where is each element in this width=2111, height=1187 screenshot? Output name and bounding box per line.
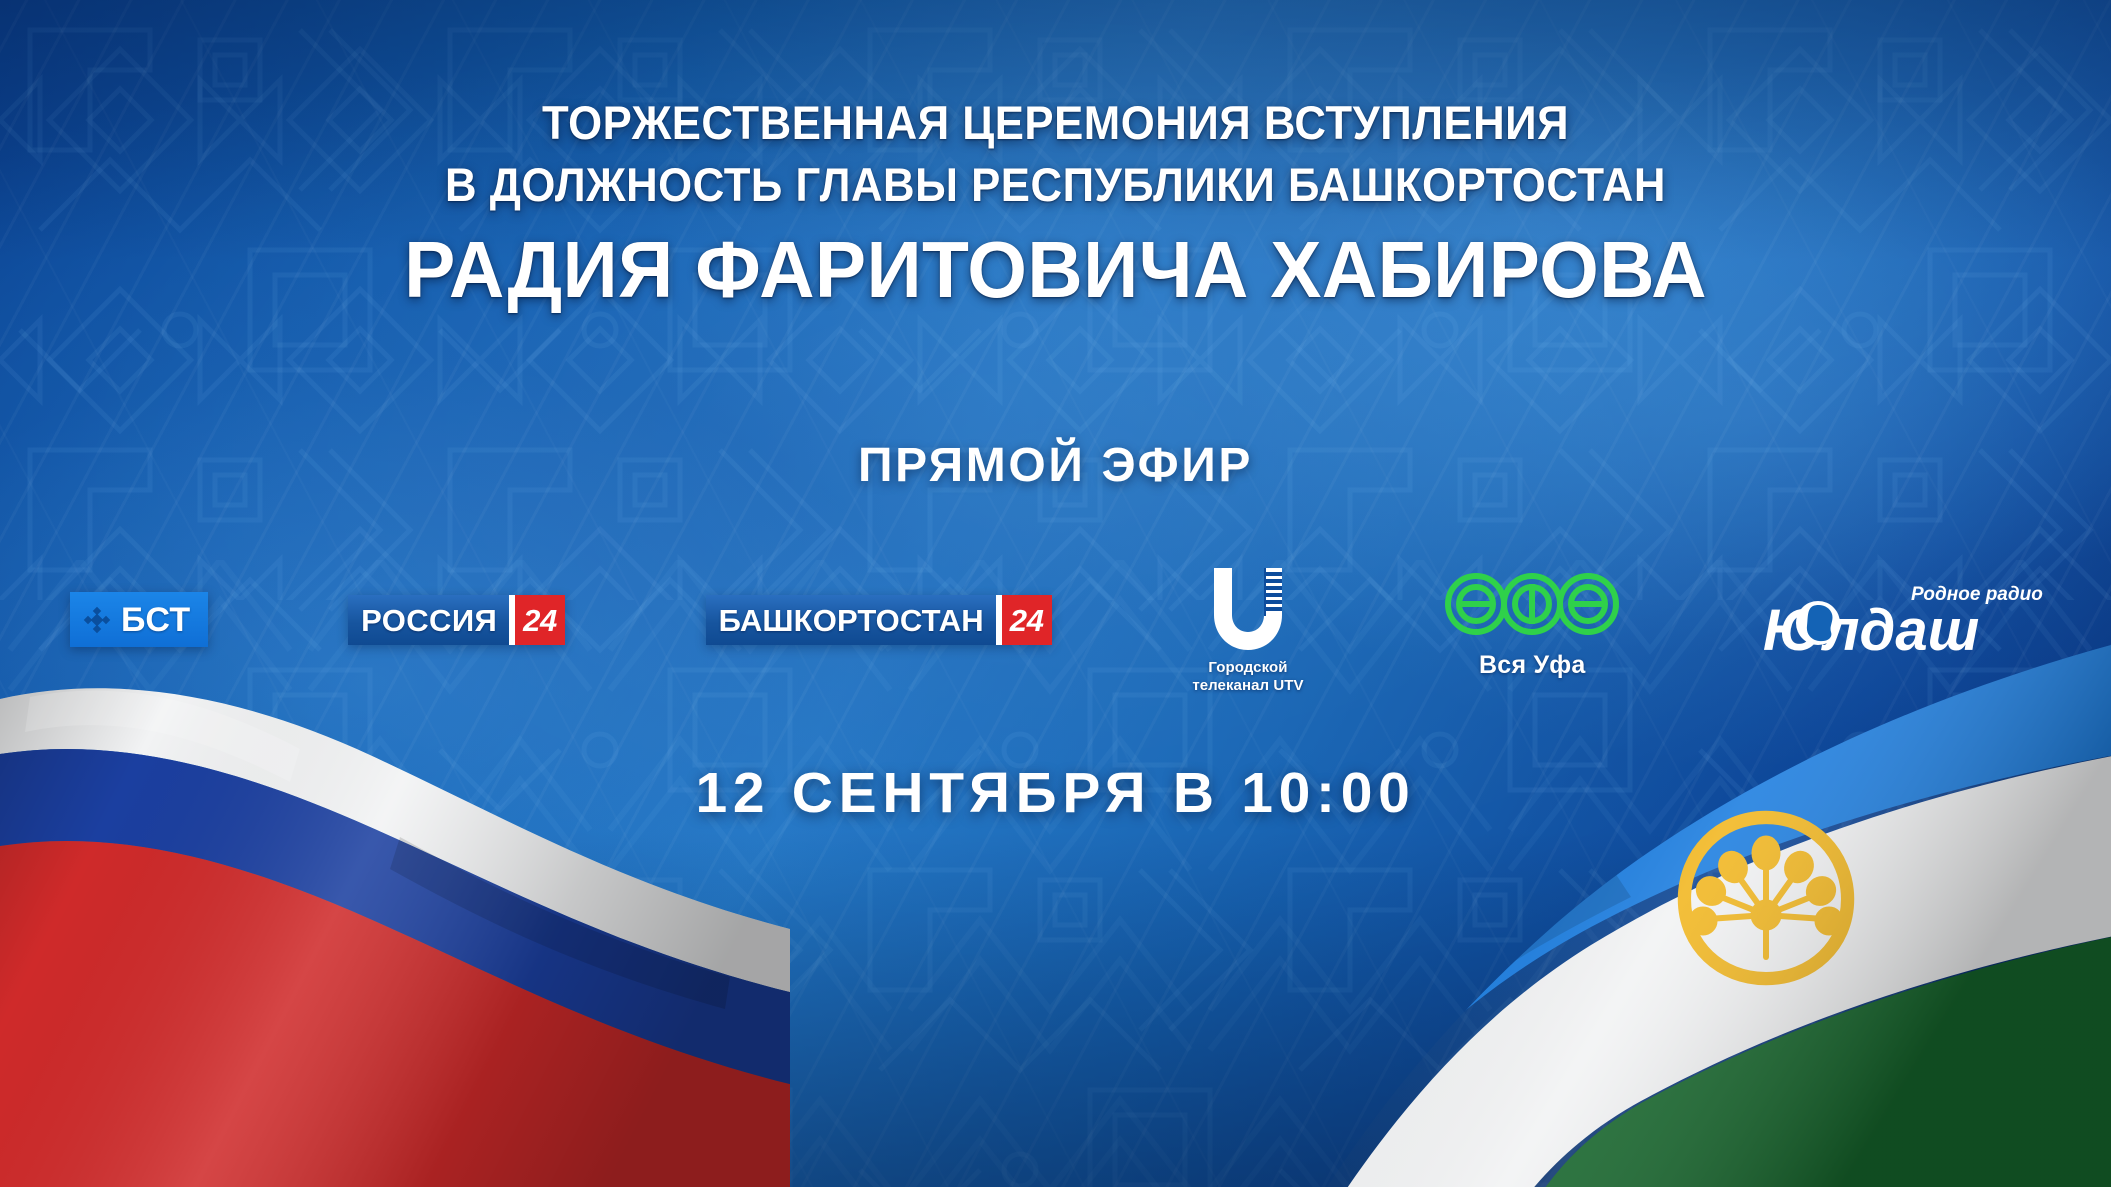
broadcast-announcement-slide: ТОРЖЕСТВЕННАЯ ЦЕРЕМОНИЯ ВСТУПЛЕНИЯ В ДОЛ… xyxy=(0,0,2111,1187)
logo-bashkortostan-24[interactable]: БАШКОРТОСТАН 24 xyxy=(706,566,1052,645)
yuldash-globe-icon: Родное радио Юлдаш xyxy=(1761,580,2051,658)
announcement-title: ТОРЖЕСТВЕННАЯ ЦЕРЕМОНИЯ ВСТУПЛЕНИЯ В ДОЛ… xyxy=(0,92,2111,318)
logo-bashkortostan-label: БАШКОРТОСТАН xyxy=(706,595,996,645)
logo-vsya-ufa[interactable]: Вся Уфа xyxy=(1444,572,1620,680)
title-line-3-name: РАДИЯ ФАРИТОВИЧА ХАБИРОВА xyxy=(42,222,2069,318)
logo-bashkortostan-number: 24 xyxy=(1002,595,1052,645)
logo-vsya-ufa-label: Вся Уфа xyxy=(1479,651,1586,680)
logo-yuldash[interactable]: Родное радио Юлдаш xyxy=(1761,580,2051,658)
event-date-time: 12 СЕНТЯБРЯ В 10:00 xyxy=(0,760,2111,826)
logo-rossiya-24[interactable]: РОССИЯ 24 xyxy=(348,566,565,645)
bashkir-ornament-icon xyxy=(82,605,112,635)
utv-u-icon xyxy=(1206,566,1290,652)
broadcaster-logo-row: БСТ РОССИЯ 24 БАШКОРТОСТАН 24 xyxy=(70,566,2051,696)
title-line-2: В ДОЛЖНОСТЬ ГЛАВЫ РЕСПУБЛИКИ БАШКОРТОСТА… xyxy=(74,154,2037,216)
logo-yuldash-label: Юлдаш xyxy=(1763,598,1979,658)
live-broadcast-label: ПРЯМОЙ ЭФИР xyxy=(0,438,2111,493)
logo-utv-caption-line2: телеканал UTV xyxy=(1192,677,1303,695)
logo-rossiya-label: РОССИЯ xyxy=(348,595,509,645)
vsya-ufa-circles-icon xyxy=(1444,572,1620,636)
logo-utv[interactable]: Городской телеканал UTV xyxy=(1192,566,1303,696)
logo-bst-label: БСТ xyxy=(121,603,191,637)
logo-rossiya-number: 24 xyxy=(515,595,565,645)
logo-utv-caption: Городской телеканал UTV xyxy=(1192,659,1303,696)
title-line-1: ТОРЖЕСТВЕННАЯ ЦЕРЕМОНИЯ ВСТУПЛЕНИЯ xyxy=(74,92,2037,154)
logo-bst[interactable]: БСТ xyxy=(70,566,208,647)
logo-utv-caption-line1: Городской xyxy=(1192,659,1303,677)
